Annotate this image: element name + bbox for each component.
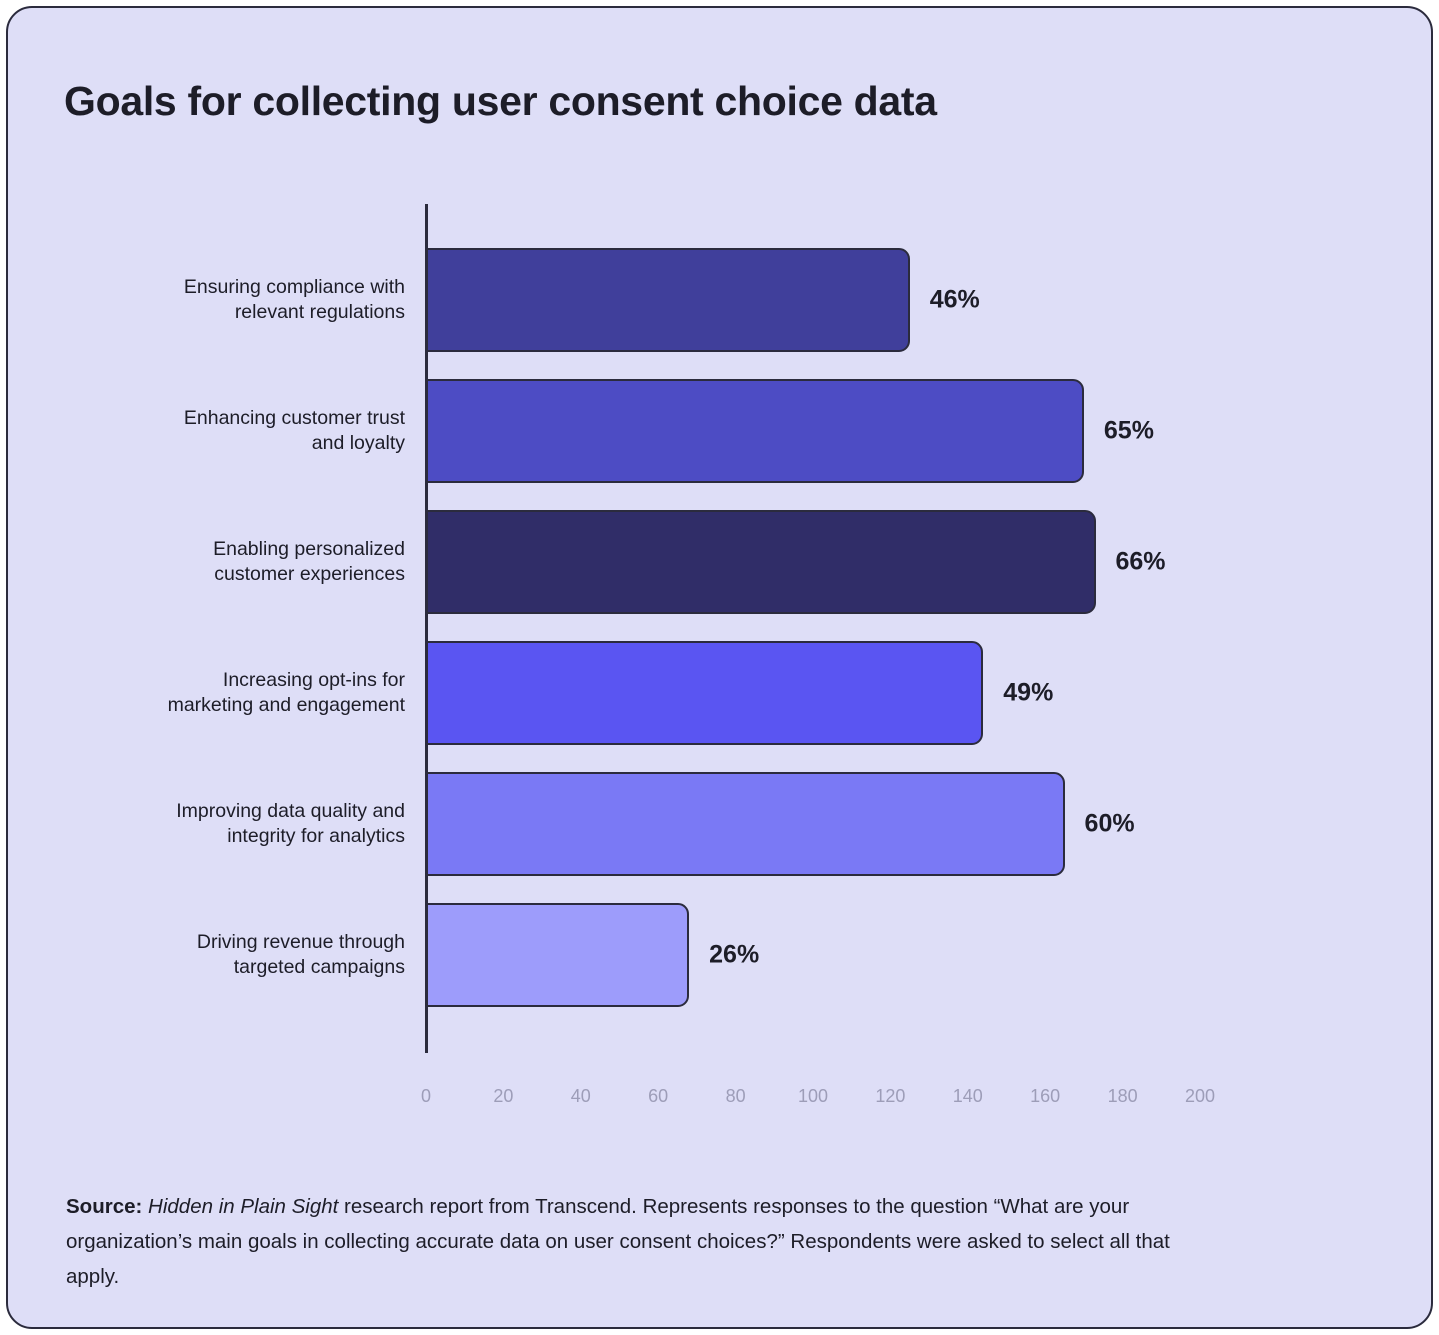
bar-row: Increasing opt-ins formarketing and enga… [8, 641, 1433, 745]
bar-value-label: 49% [1003, 679, 1053, 708]
x-axis-tick-label: 120 [875, 1086, 905, 1107]
bar [426, 510, 1096, 614]
bar-category-label-line2: relevant regulations [75, 300, 405, 325]
source-label: Source: [66, 1195, 142, 1218]
bar-category-label: Improving data quality andintegrity for … [75, 799, 405, 849]
x-axis-tick-label: 200 [1185, 1086, 1215, 1107]
bar-value-label: 26% [709, 941, 759, 970]
bar [426, 903, 689, 1007]
bar-category-label: Enabling personalizedcustomer experience… [75, 537, 405, 587]
source-footnote: Source: Hidden in Plain Sight research r… [66, 1189, 1186, 1294]
bar-category-label-line1: Enhancing customer trust [75, 406, 405, 431]
bar-value-label: 60% [1085, 810, 1135, 839]
chart-card: Goals for collecting user consent choice… [6, 6, 1433, 1329]
bar-category-label-line2: targeted campaigns [75, 955, 405, 980]
source-line1-rest: research report from Transcend. Represen… [338, 1195, 988, 1218]
bar-category-label-line2: customer experiences [75, 562, 405, 587]
bar-category-label: Driving revenue throughtargeted campaign… [75, 930, 405, 980]
bar-category-label-line2: and loyalty [75, 431, 405, 456]
x-axis-tick-label: 60 [648, 1086, 668, 1107]
x-axis-tick-label: 140 [953, 1086, 983, 1107]
bar-category-label-line1: Enabling personalized [75, 537, 405, 562]
x-axis-tick-label: 180 [1108, 1086, 1138, 1107]
x-axis-tick-label: 80 [726, 1086, 746, 1107]
bar [426, 379, 1084, 483]
source-report-title: Hidden in Plain Sight [148, 1195, 338, 1218]
x-axis-tick-label: 20 [493, 1086, 513, 1107]
x-axis-tick-label: 160 [1030, 1086, 1060, 1107]
bar-chart-plot: Ensuring compliance withrelevant regulat… [8, 8, 1433, 1329]
bar-category-label-line1: Ensuring compliance with [75, 275, 405, 300]
bar-row: Ensuring compliance withrelevant regulat… [8, 248, 1433, 352]
bar-category-label: Enhancing customer trustand loyalty [75, 406, 405, 456]
bar [426, 772, 1065, 876]
bar-category-label-line1: Increasing opt-ins for [75, 668, 405, 693]
bar-row: Enabling personalizedcustomer experience… [8, 510, 1433, 614]
bar-row: Improving data quality andintegrity for … [8, 772, 1433, 876]
bar-category-label-line1: Improving data quality and [75, 799, 405, 824]
x-axis-tick-label: 0 [421, 1086, 431, 1107]
bar-category-label-line1: Driving revenue through [75, 930, 405, 955]
bar-value-label: 66% [1116, 548, 1166, 577]
bar [426, 248, 910, 352]
bar-row: Driving revenue throughtargeted campaign… [8, 903, 1433, 1007]
bar-category-label-line2: integrity for analytics [75, 824, 405, 849]
bar-value-label: 65% [1104, 417, 1154, 446]
bar-category-label-line2: marketing and engagement [75, 693, 405, 718]
bar [426, 641, 983, 745]
bar-category-label: Increasing opt-ins formarketing and enga… [75, 668, 405, 718]
x-axis-tick-label: 100 [798, 1086, 828, 1107]
bar-category-label: Ensuring compliance withrelevant regulat… [75, 275, 405, 325]
x-axis-tick-label: 40 [571, 1086, 591, 1107]
bar-value-label: 46% [930, 286, 980, 315]
bar-row: Enhancing customer trustand loyalty65% [8, 379, 1433, 483]
